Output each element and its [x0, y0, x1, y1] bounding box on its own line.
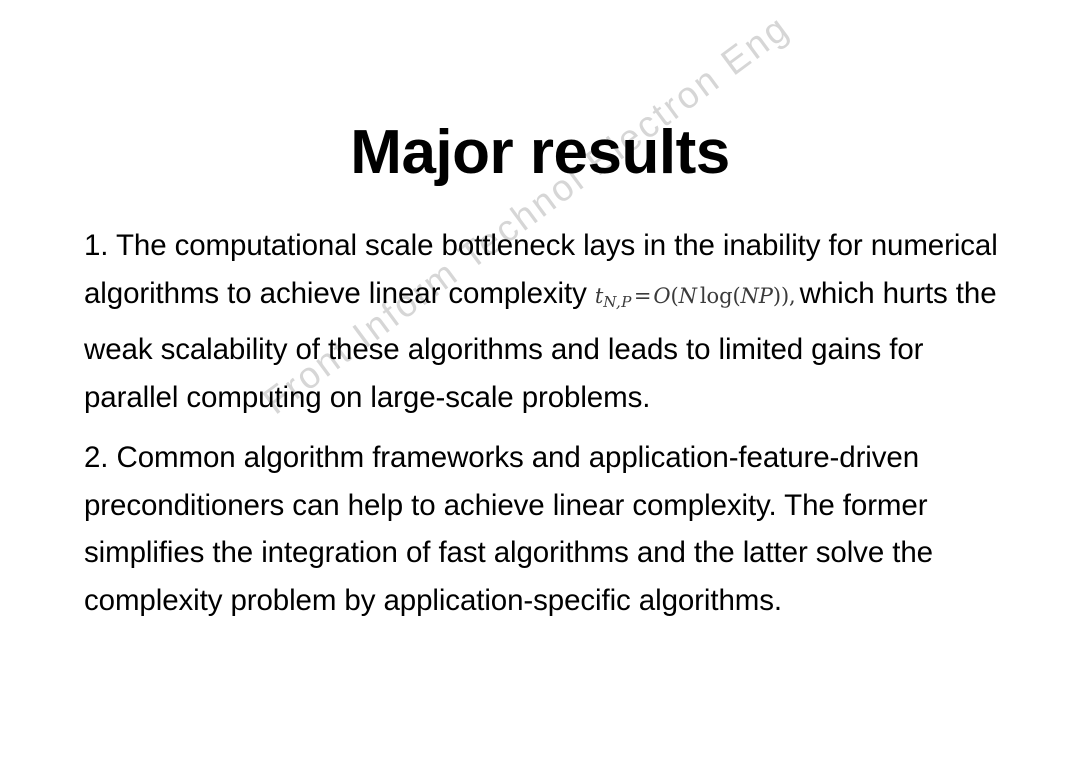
formula-variable-t: t: [595, 284, 603, 308]
formula-subscript-np: N,P: [603, 293, 632, 311]
formula-close-paren: ): [781, 284, 789, 308]
formula-n: N: [679, 284, 697, 308]
formula-open-paren: (: [671, 284, 679, 308]
body-paragraph-2: 2. Common algorithm frameworks and appli…: [84, 434, 1004, 624]
formula-big-o: O: [653, 284, 670, 308]
formula-inner-open-paren: (: [732, 284, 740, 308]
formula-comma: ,: [789, 284, 796, 308]
complexity-formula: tN,P=O(Nlog(NP)),: [595, 284, 800, 308]
slide-body: 1. The computational scale bottleneck la…: [84, 222, 1004, 624]
formula-equals: =: [632, 284, 654, 308]
formula-np: NP: [741, 284, 773, 308]
page-title: Major results: [0, 120, 1080, 185]
formula-inner-close-paren: ): [773, 284, 781, 308]
body-paragraph-1: 1. The computational scale bottleneck la…: [84, 222, 1004, 421]
formula-log: log: [697, 284, 733, 308]
slide-canvas: Front Inform Technol Electron Eng Major …: [0, 0, 1080, 775]
